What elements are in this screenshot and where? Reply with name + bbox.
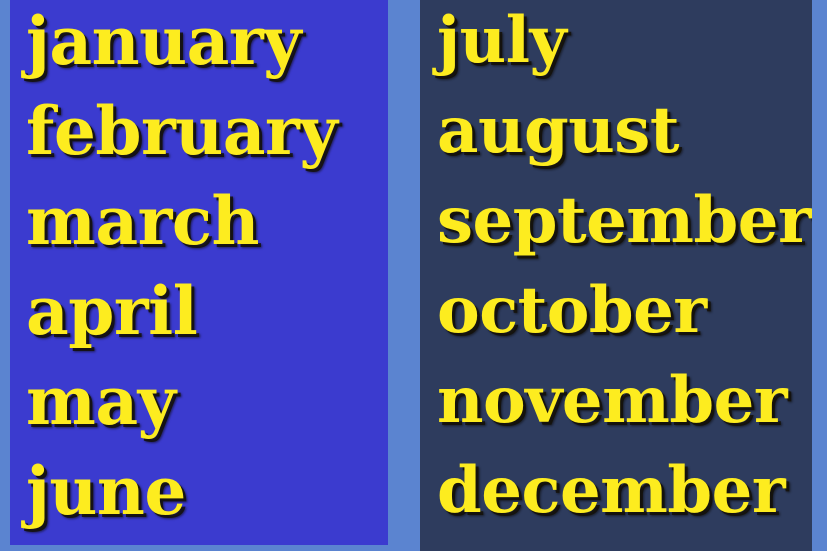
month-item-april: april (26, 266, 388, 356)
month-item-june: june (26, 446, 388, 536)
month-list-second-half: july august september october november d… (420, 0, 812, 536)
month-item-december: december (437, 446, 812, 536)
month-item-march: march (26, 176, 388, 266)
month-item-july: july (437, 0, 812, 86)
month-item-may: may (26, 356, 388, 446)
month-item-january: january (26, 0, 388, 86)
month-list-first-half: january february march april may june (10, 0, 388, 536)
month-item-october: october (437, 266, 812, 356)
month-item-november: november (437, 356, 812, 446)
months-panel-first-half: january february march april may june (10, 0, 388, 545)
month-item-september: september (437, 176, 812, 266)
months-poster: january february march april may june ju… (0, 0, 827, 551)
months-panel-second-half: july august september october november d… (420, 0, 812, 551)
month-item-august: august (437, 86, 812, 176)
month-item-february: february (26, 86, 388, 176)
